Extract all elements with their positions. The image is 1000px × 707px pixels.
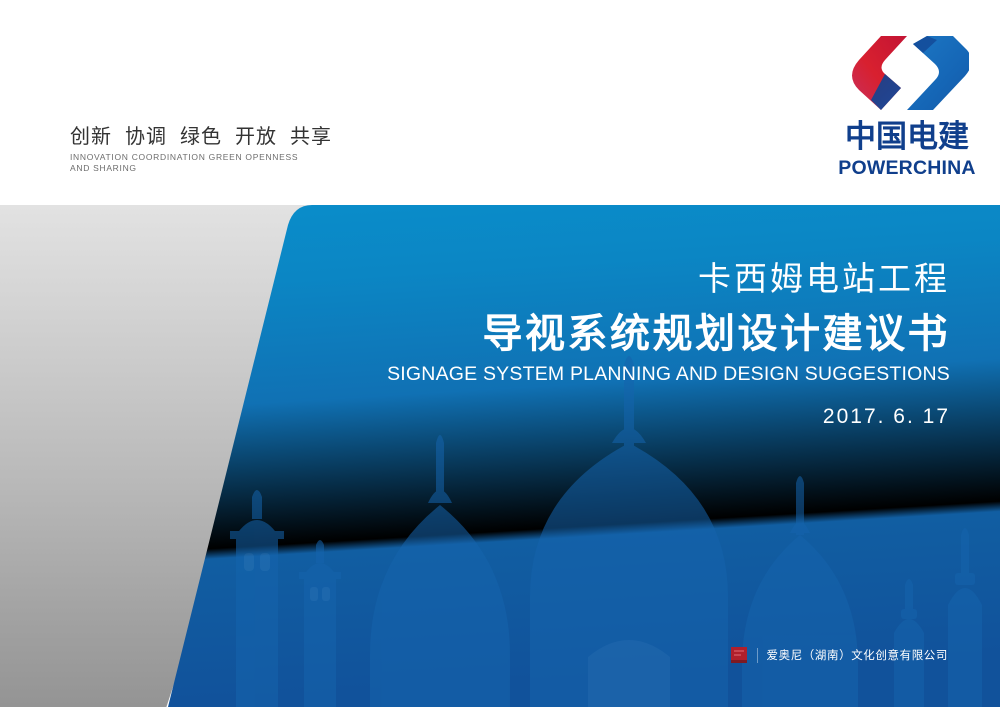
presentation-cover-slide: 创新协调绿色开放共享 INNOVATION COORDINATION GREEN… (0, 0, 1000, 707)
document-title-chinese: 导视系统规划设计建议书 (290, 310, 950, 358)
document-title-english: SIGNAGE SYSTEM PLANNING AND DESIGN SUGGE… (290, 362, 950, 386)
powerchina-brand-logo: 中国电建 POWERCHINA (826, 32, 988, 180)
cover-date: 2017. 6. 17 (290, 405, 950, 429)
brand-name-english: POWERCHINA (826, 157, 988, 179)
slogan-word-innovation: 创新 (70, 124, 112, 148)
ioni-logo-mark (730, 645, 750, 665)
project-title-chinese: 卡西姆电站工程 (290, 258, 950, 300)
slogan-word-sharing: 共享 (290, 124, 332, 148)
slogan-chinese: 创新协调绿色开放共享 (70, 124, 345, 148)
cover-title-block: 卡西姆电站工程 导视系统规划设计建议书 SIGNAGE SYSTEM PLANN… (290, 258, 950, 429)
powerchina-logo-mark (845, 32, 969, 114)
credit-divider (757, 648, 758, 663)
brand-name-chinese: 中国电建 (826, 120, 988, 154)
slogan-english: INNOVATION COORDINATION GREEN OPENNESS A… (70, 152, 318, 174)
corporate-slogan-block: 创新协调绿色开放共享 INNOVATION COORDINATION GREEN… (70, 124, 345, 174)
creator-company-name: 爱奥尼（湖南）文化创意有限公司 (767, 647, 949, 663)
creator-credit: 爱奥尼（湖南）文化创意有限公司 (730, 644, 949, 666)
slogan-word-openness: 开放 (235, 124, 277, 148)
slogan-word-coordination: 协调 (125, 124, 167, 148)
slogan-word-green: 绿色 (180, 124, 222, 148)
slide-header: 创新协调绿色开放共享 INNOVATION COORDINATION GREEN… (0, 0, 1000, 205)
